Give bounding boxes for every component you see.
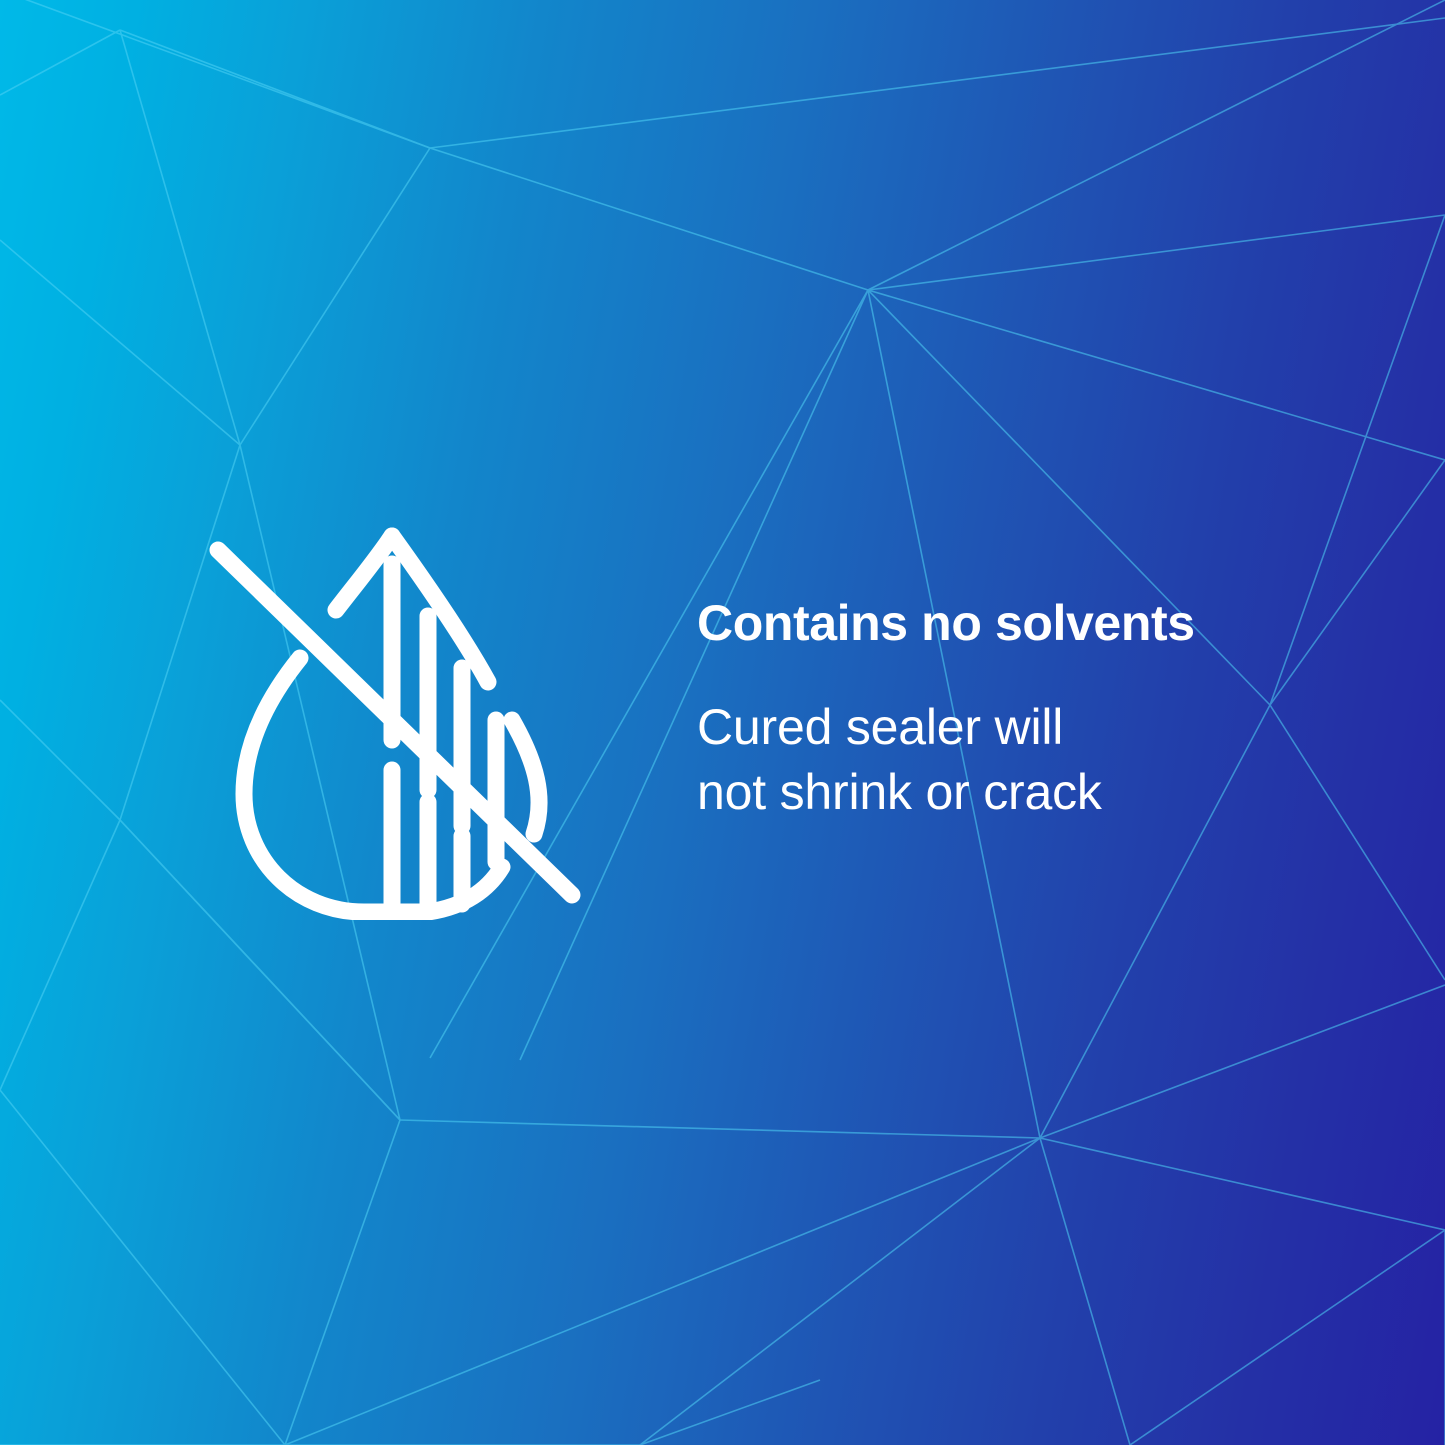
feature-text-block: Contains no solvents Cured sealer will n… [697, 596, 1337, 825]
droplet-outline-right-upper [392, 536, 488, 682]
feature-subcopy: Cured sealer will not shrink or crack [697, 695, 1337, 825]
droplet-outline-right-lower [512, 720, 539, 834]
feature-card: Contains no solvents Cured sealer will n… [0, 0, 1445, 1445]
feature-subcopy-line-1: Cured sealer will [697, 695, 1337, 760]
feature-headline: Contains no solvents [697, 596, 1337, 650]
no-solvents-droplet-icon [196, 512, 596, 920]
feature-subcopy-line-2: not shrink or crack [697, 760, 1337, 825]
